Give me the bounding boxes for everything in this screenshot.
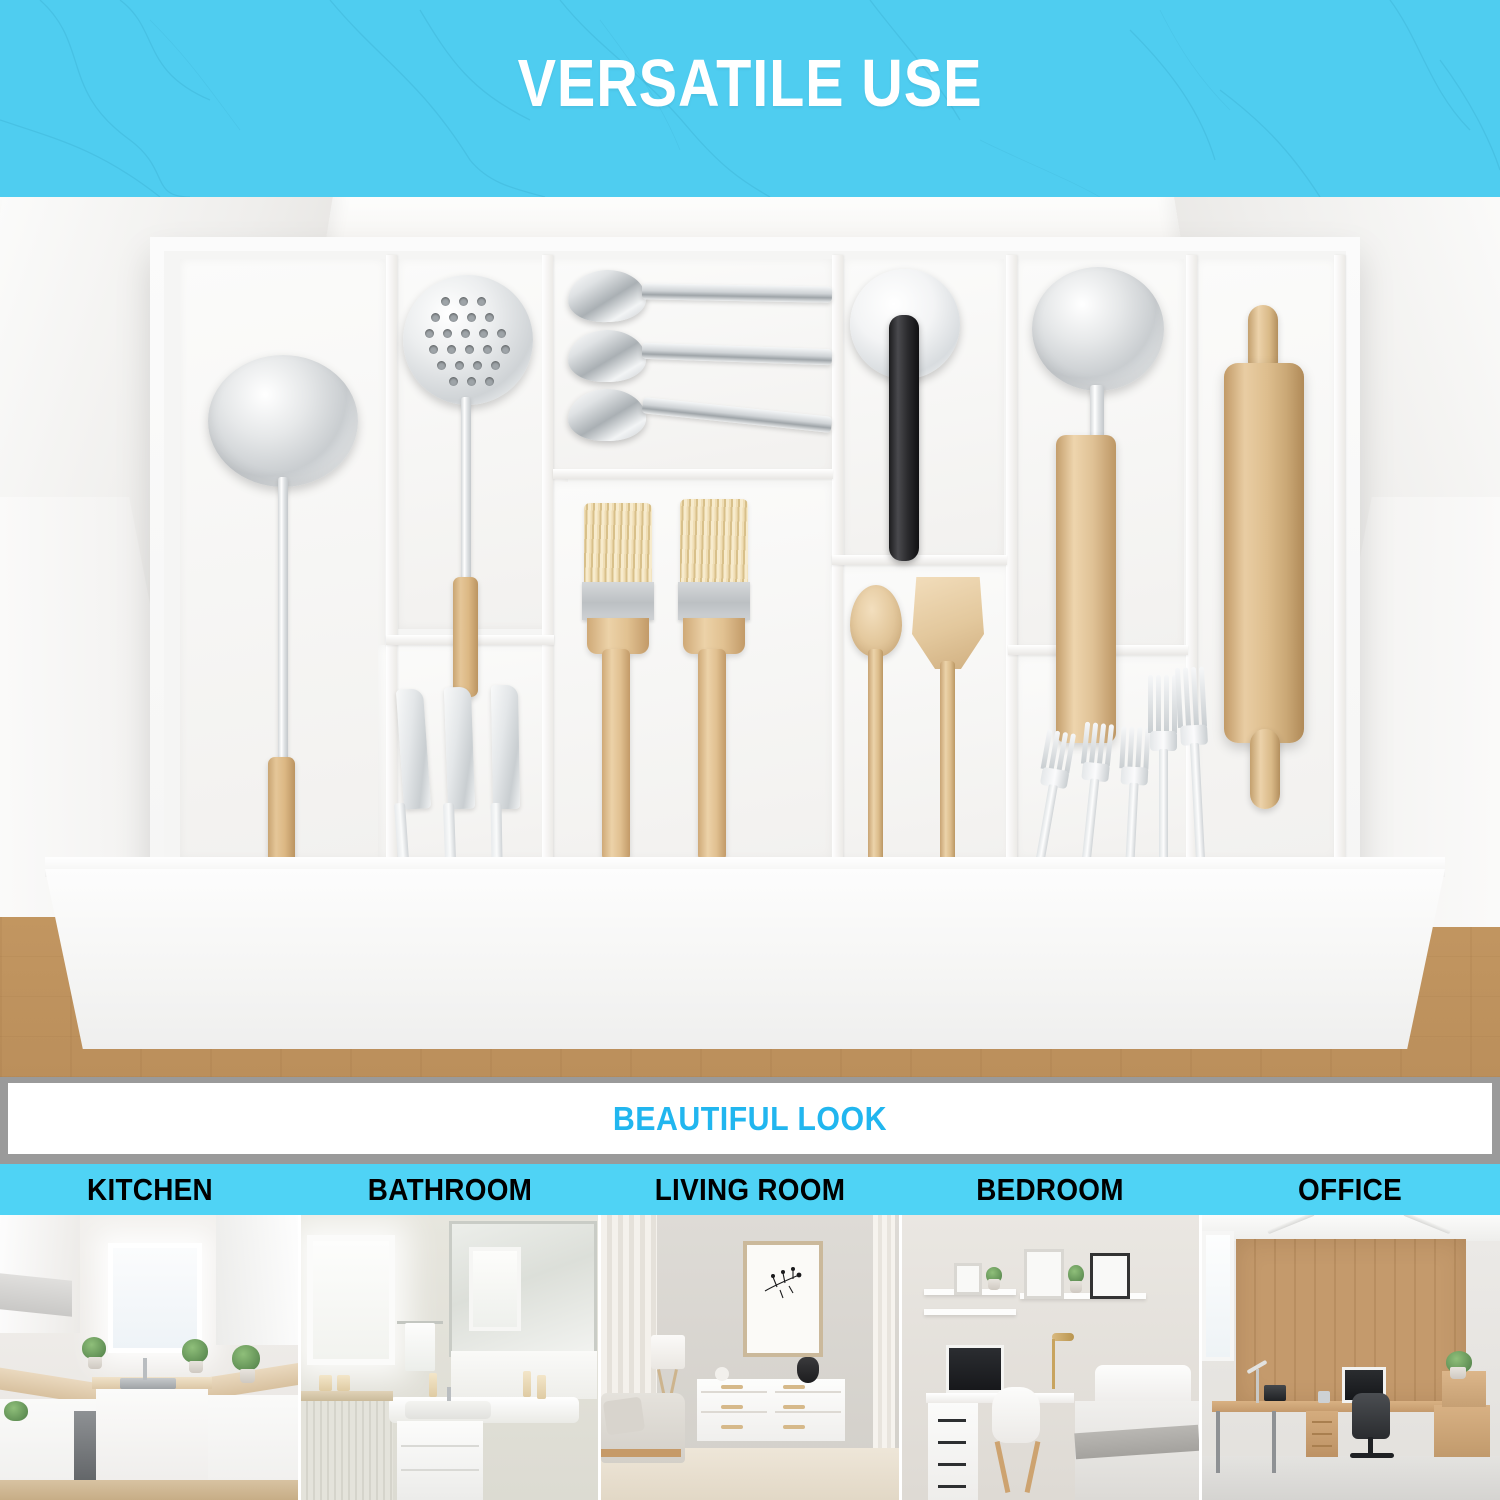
kitchen-floor xyxy=(0,1480,298,1500)
dresser-handle xyxy=(721,1405,743,1409)
branch-artwork-icon xyxy=(747,1245,819,1353)
bedroom-desk-lamp-head xyxy=(1052,1333,1074,1341)
dresser-handle xyxy=(783,1405,805,1409)
rolling-pin-knob-bottom xyxy=(1250,729,1280,809)
office-cabinet xyxy=(1434,1405,1490,1457)
bathroom-window-sill xyxy=(301,1391,393,1401)
office-ceiling xyxy=(1202,1215,1500,1241)
bedroom-shelf xyxy=(924,1309,1016,1315)
bathroom-soap-bottle xyxy=(523,1371,531,1397)
kitchen-window xyxy=(108,1243,202,1353)
brush-ferrule xyxy=(678,582,750,620)
brush-ferrule xyxy=(582,582,654,620)
divider-vertical-4[interactable] xyxy=(1006,255,1017,861)
beautiful-look-band: BEAUTIFUL LOOK xyxy=(0,1077,1500,1164)
drawer-pull xyxy=(938,1419,966,1422)
ladle-stem xyxy=(1090,385,1104,441)
brush-handle xyxy=(602,649,630,861)
pizza-cutter-handle xyxy=(889,315,919,561)
kitchen-island xyxy=(96,1383,208,1493)
brush-handle xyxy=(698,649,726,861)
bedroom-framed-art xyxy=(1090,1253,1130,1299)
beautiful-look-text: BEAUTIFUL LOOK xyxy=(613,1100,887,1138)
sofa-base xyxy=(601,1449,681,1457)
room-label-kitchen: KITCHEN xyxy=(15,1164,285,1215)
bathroom-wainscot xyxy=(301,1401,393,1500)
skimmer-perforations xyxy=(403,275,533,405)
knife-handle xyxy=(443,803,456,861)
office-desk-lamp-arm xyxy=(1256,1369,1259,1403)
drawer-box[interactable] xyxy=(150,237,1360,877)
brush-icon xyxy=(584,503,652,583)
knife-handle xyxy=(490,803,502,861)
room-label-office: OFFICE xyxy=(1215,1164,1485,1215)
sofa-cushion xyxy=(603,1397,645,1436)
kitchen-faucet xyxy=(143,1358,147,1380)
kitchen-plant-pot xyxy=(189,1361,203,1373)
skimmer-wood-handle xyxy=(453,577,478,697)
wooden-spoon-handle xyxy=(868,649,883,861)
pedestal-drawer-line xyxy=(1312,1433,1332,1435)
kitchen-plant xyxy=(232,1345,260,1371)
bathroom-towel xyxy=(405,1323,435,1371)
room-label-living-room: LIVING ROOM xyxy=(615,1164,885,1215)
dresser-drawer-line xyxy=(775,1411,841,1413)
ladle-icon xyxy=(1032,267,1164,391)
office-window xyxy=(1202,1231,1234,1361)
drawer-pull xyxy=(938,1485,966,1488)
bedroom-framed-photo xyxy=(954,1263,982,1295)
bedroom-plant-pot xyxy=(1070,1281,1082,1293)
brush-icon xyxy=(680,499,748,583)
bathroom-vanity xyxy=(397,1421,483,1500)
living-room-wall-art xyxy=(743,1241,823,1357)
room-photo-bathroom xyxy=(298,1215,599,1500)
kitchen-plant xyxy=(4,1401,28,1421)
office-pen-cup xyxy=(1318,1391,1330,1403)
bathroom-soap-bottle xyxy=(537,1375,546,1399)
pedestal-drawer-line xyxy=(1312,1445,1332,1447)
bathroom-mirror-reflection xyxy=(469,1247,521,1331)
wooden-spatula-handle xyxy=(940,661,955,861)
bathroom-soap-bottle xyxy=(429,1373,437,1397)
beautiful-look-inner: BEAUTIFUL LOOK xyxy=(8,1083,1492,1154)
dresser-handle xyxy=(721,1385,743,1389)
kitchen-sink xyxy=(120,1378,176,1389)
bedroom-chair xyxy=(992,1387,1040,1443)
desk-leg xyxy=(1216,1411,1220,1473)
bathroom-cup xyxy=(319,1375,332,1391)
desk-leg xyxy=(1272,1411,1276,1473)
wooden-spoon-icon xyxy=(850,585,902,657)
dresser-handle xyxy=(721,1425,743,1429)
pedestal-drawer-line xyxy=(1312,1421,1332,1423)
room-photo-row xyxy=(0,1215,1500,1500)
dresser-drawer-line xyxy=(701,1411,767,1413)
kitchen-plant-pot xyxy=(240,1369,255,1383)
room-photo-bedroom xyxy=(899,1215,1200,1500)
bathroom-cup xyxy=(337,1375,350,1391)
living-room-dresser xyxy=(697,1379,845,1441)
ladle-stem xyxy=(278,477,288,767)
hero-product-photo xyxy=(0,197,1500,1077)
dresser-handle xyxy=(783,1425,805,1429)
knife-icon xyxy=(444,687,475,810)
kitchen-range-hood xyxy=(0,1273,72,1317)
bedroom-framed-art xyxy=(1024,1249,1064,1299)
kitchen-plant-pot xyxy=(88,1357,102,1369)
bathroom-drawer-line xyxy=(401,1469,479,1471)
room-label-strip: KITCHEN BATHROOM LIVING ROOM BEDROOM OFF… xyxy=(0,1164,1500,1215)
header-banner: VERSATILE USE xyxy=(0,0,1500,197)
divider-vertical-2[interactable] xyxy=(542,255,553,861)
room-photo-office xyxy=(1199,1215,1500,1500)
chair-base xyxy=(1350,1453,1394,1458)
skimmer-icon xyxy=(403,275,533,405)
rolling-pin-icon xyxy=(1224,363,1304,743)
drawer-pull xyxy=(938,1441,966,1444)
kitchen-plant xyxy=(82,1337,106,1359)
ladle-icon xyxy=(208,355,358,487)
bathroom-drawer-line xyxy=(401,1445,479,1447)
living-room-curtain-right xyxy=(873,1215,895,1463)
living-room-vase xyxy=(797,1357,819,1383)
divider-vertical-1[interactable] xyxy=(386,255,397,861)
bedroom-monitor xyxy=(946,1345,1004,1393)
divider-horizontal-wood[interactable] xyxy=(832,555,1007,565)
page-title: VERSATILE USE xyxy=(105,50,1395,117)
office-chair xyxy=(1352,1393,1390,1439)
kitchen-upper-cabinet-right xyxy=(216,1215,298,1345)
bedroom-desk-lamp-arm xyxy=(1052,1339,1055,1389)
knife-icon xyxy=(491,685,520,809)
room-label-bedroom: BEDROOM xyxy=(915,1164,1185,1215)
rolling-pin-icon xyxy=(1056,435,1116,743)
bathroom-window xyxy=(307,1235,395,1365)
living-room-lamp-shade xyxy=(651,1335,685,1369)
dresser-drawer-line xyxy=(775,1391,841,1393)
office-plant-pot xyxy=(1450,1367,1466,1379)
divider-horizontal-spoons[interactable] xyxy=(553,469,833,479)
room-photo-living-room xyxy=(598,1215,899,1500)
skimmer-stem xyxy=(461,397,471,587)
office-floor xyxy=(1202,1456,1500,1500)
room-label-bathroom: BATHROOM xyxy=(315,1164,585,1215)
spoon-handle xyxy=(642,283,832,302)
bathroom-faucet xyxy=(447,1387,451,1401)
bedroom-plant-pot xyxy=(988,1279,1000,1290)
divider-vertical-6[interactable] xyxy=(1334,255,1345,861)
dresser-drawer-line xyxy=(701,1391,767,1393)
drawer-pull xyxy=(938,1463,966,1466)
room-photo-kitchen xyxy=(0,1215,298,1500)
drawer-front-panel[interactable] xyxy=(45,869,1445,1049)
office-laptop xyxy=(1264,1385,1286,1401)
bathroom-basin xyxy=(405,1401,491,1419)
kitchen-plant xyxy=(182,1339,208,1363)
dresser-handle xyxy=(783,1385,805,1389)
